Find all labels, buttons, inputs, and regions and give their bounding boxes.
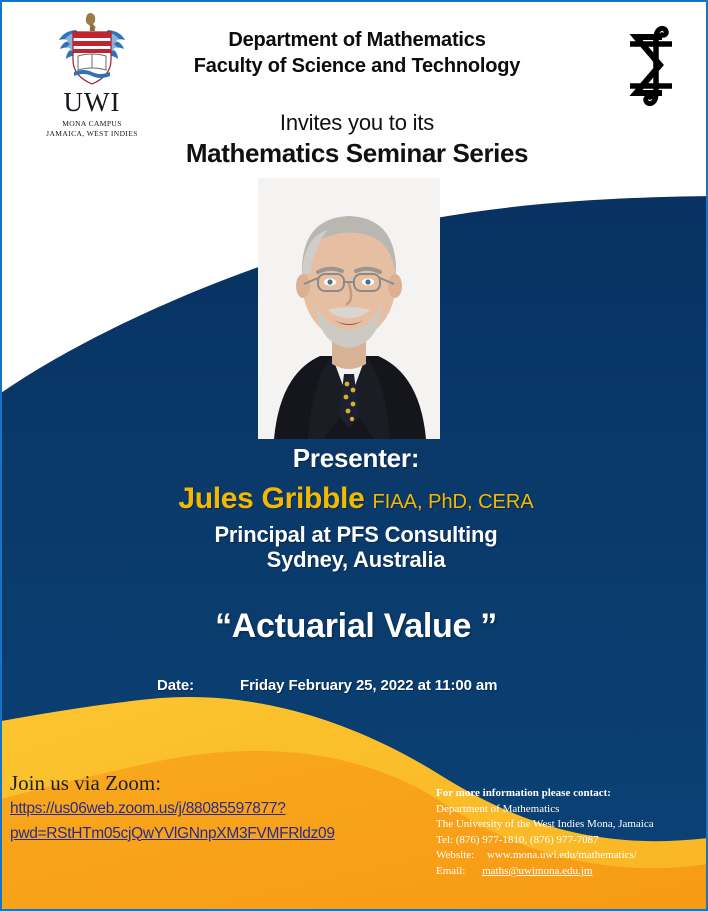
- seminar-flyer: UWI MONA CAMPUS JAMAICA, WEST INDIES Dep…: [0, 0, 708, 911]
- presenter-credentials: FIAA, PhD, CERA: [373, 491, 534, 513]
- contact-heading: For more information please contact:: [436, 786, 706, 802]
- speaker-photo: [258, 178, 440, 439]
- contact-website-value: www.mona.uwi.edu/mathematics/: [487, 849, 637, 861]
- department-line-1: Department of Mathematics: [132, 28, 582, 54]
- zoom-meeting-link-line-1[interactable]: https://us06web.zoom.us/j/88085597877?: [10, 799, 360, 819]
- integral-sigma-symbol-icon: [616, 20, 682, 116]
- presenter-role-line-1: Principal at PFS Consulting: [2, 523, 708, 548]
- flyer-header: UWI MONA CAMPUS JAMAICA, WEST INDIES Dep…: [2, 2, 708, 177]
- contact-email-label: Email:: [436, 864, 465, 880]
- contact-website-label: Website:: [436, 848, 474, 864]
- series-title: Mathematics Seminar Series: [82, 138, 632, 169]
- presenter-label: Presenter:: [2, 443, 708, 474]
- invitation-text: Invites you to its Mathematics Seminar S…: [82, 110, 632, 169]
- contact-department: Department of Mathematics: [436, 802, 706, 818]
- contact-university: The University of the West Indies Mona, …: [436, 817, 706, 833]
- presenter-name-row: Jules Gribble FIAA, PhD, CERA: [2, 482, 708, 516]
- zoom-heading: Join us via Zoom:: [10, 772, 360, 795]
- presenter-block: Presenter: Jules Gribble FIAA, PhD, CERA…: [2, 443, 708, 572]
- date-label: Date:: [157, 677, 194, 694]
- department-line-2: Faculty of Science and Technology: [132, 54, 582, 80]
- contact-telephone: Tel: (876) 977-1810, (876) 977-7087: [436, 833, 706, 849]
- uwi-crest-icon: [40, 10, 144, 88]
- contact-email-row: Email: maths@uwimona.edu.jm: [436, 864, 706, 880]
- talk-title: “Actuarial Value ”: [2, 607, 708, 646]
- zoom-meeting-link-line-2[interactable]: pwd=RStHTm05cjQwYVlGNnpXM3FVMFRldz09: [10, 824, 360, 844]
- presenter-role: Principal at PFS Consulting Sydney, Aust…: [2, 523, 708, 572]
- invite-line: Invites you to its: [280, 110, 434, 135]
- contact-email-value[interactable]: maths@uwimona.edu.jm: [482, 865, 592, 877]
- department-title: Department of Mathematics Faculty of Sci…: [132, 28, 582, 79]
- contact-block: For more information please contact: Dep…: [436, 786, 706, 880]
- presenter-role-line-2: Sydney, Australia: [2, 548, 708, 573]
- contact-website-row: Website: www.mona.uwi.edu/mathematics/: [436, 848, 706, 864]
- zoom-join-block: Join us via Zoom: https://us06web.zoom.u…: [10, 772, 360, 844]
- presenter-name: Jules Gribble: [178, 482, 364, 515]
- date-value: Friday February 25, 2022 at 11:00 am: [240, 677, 497, 694]
